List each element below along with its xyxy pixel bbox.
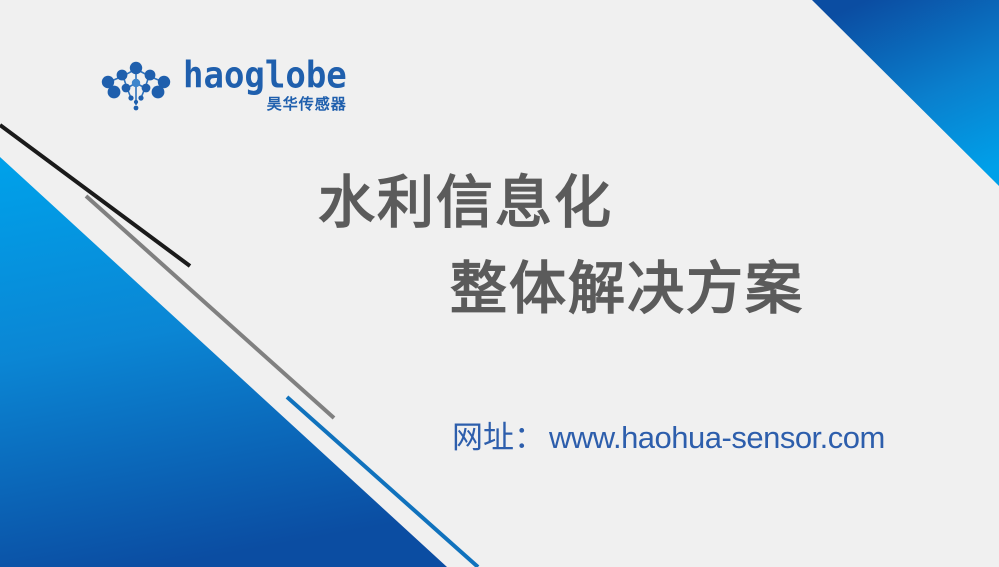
- accent-line-gray: [86, 196, 334, 418]
- top-right-triangle: [812, 0, 999, 186]
- accent-line-black: [0, 125, 190, 266]
- slide-title: 水利信息化 整体解决方案: [300, 160, 900, 332]
- haoglobe-network-logo-icon: [97, 58, 175, 114]
- slide-canvas: haoglobe 昊华传感器 水利信息化 整体解决方案 网址： www.haoh…: [0, 0, 999, 567]
- website-line: 网址： www.haohua-sensor.com: [452, 418, 885, 458]
- brand-logo-text: haoglobe 昊华传感器: [183, 58, 347, 113]
- title-line-2: 整体解决方案: [300, 246, 900, 332]
- title-line-1: 水利信息化: [300, 160, 900, 246]
- accent-line-blue: [287, 397, 478, 567]
- website-url[interactable]: www.haohua-sensor.com: [549, 418, 885, 458]
- website-label: 网址：: [452, 418, 545, 458]
- brand-subtitle: 昊华传感器: [267, 97, 347, 113]
- brand-wordmark: haoglobe: [183, 58, 347, 94]
- brand-logo[interactable]: haoglobe 昊华传感器: [97, 58, 347, 114]
